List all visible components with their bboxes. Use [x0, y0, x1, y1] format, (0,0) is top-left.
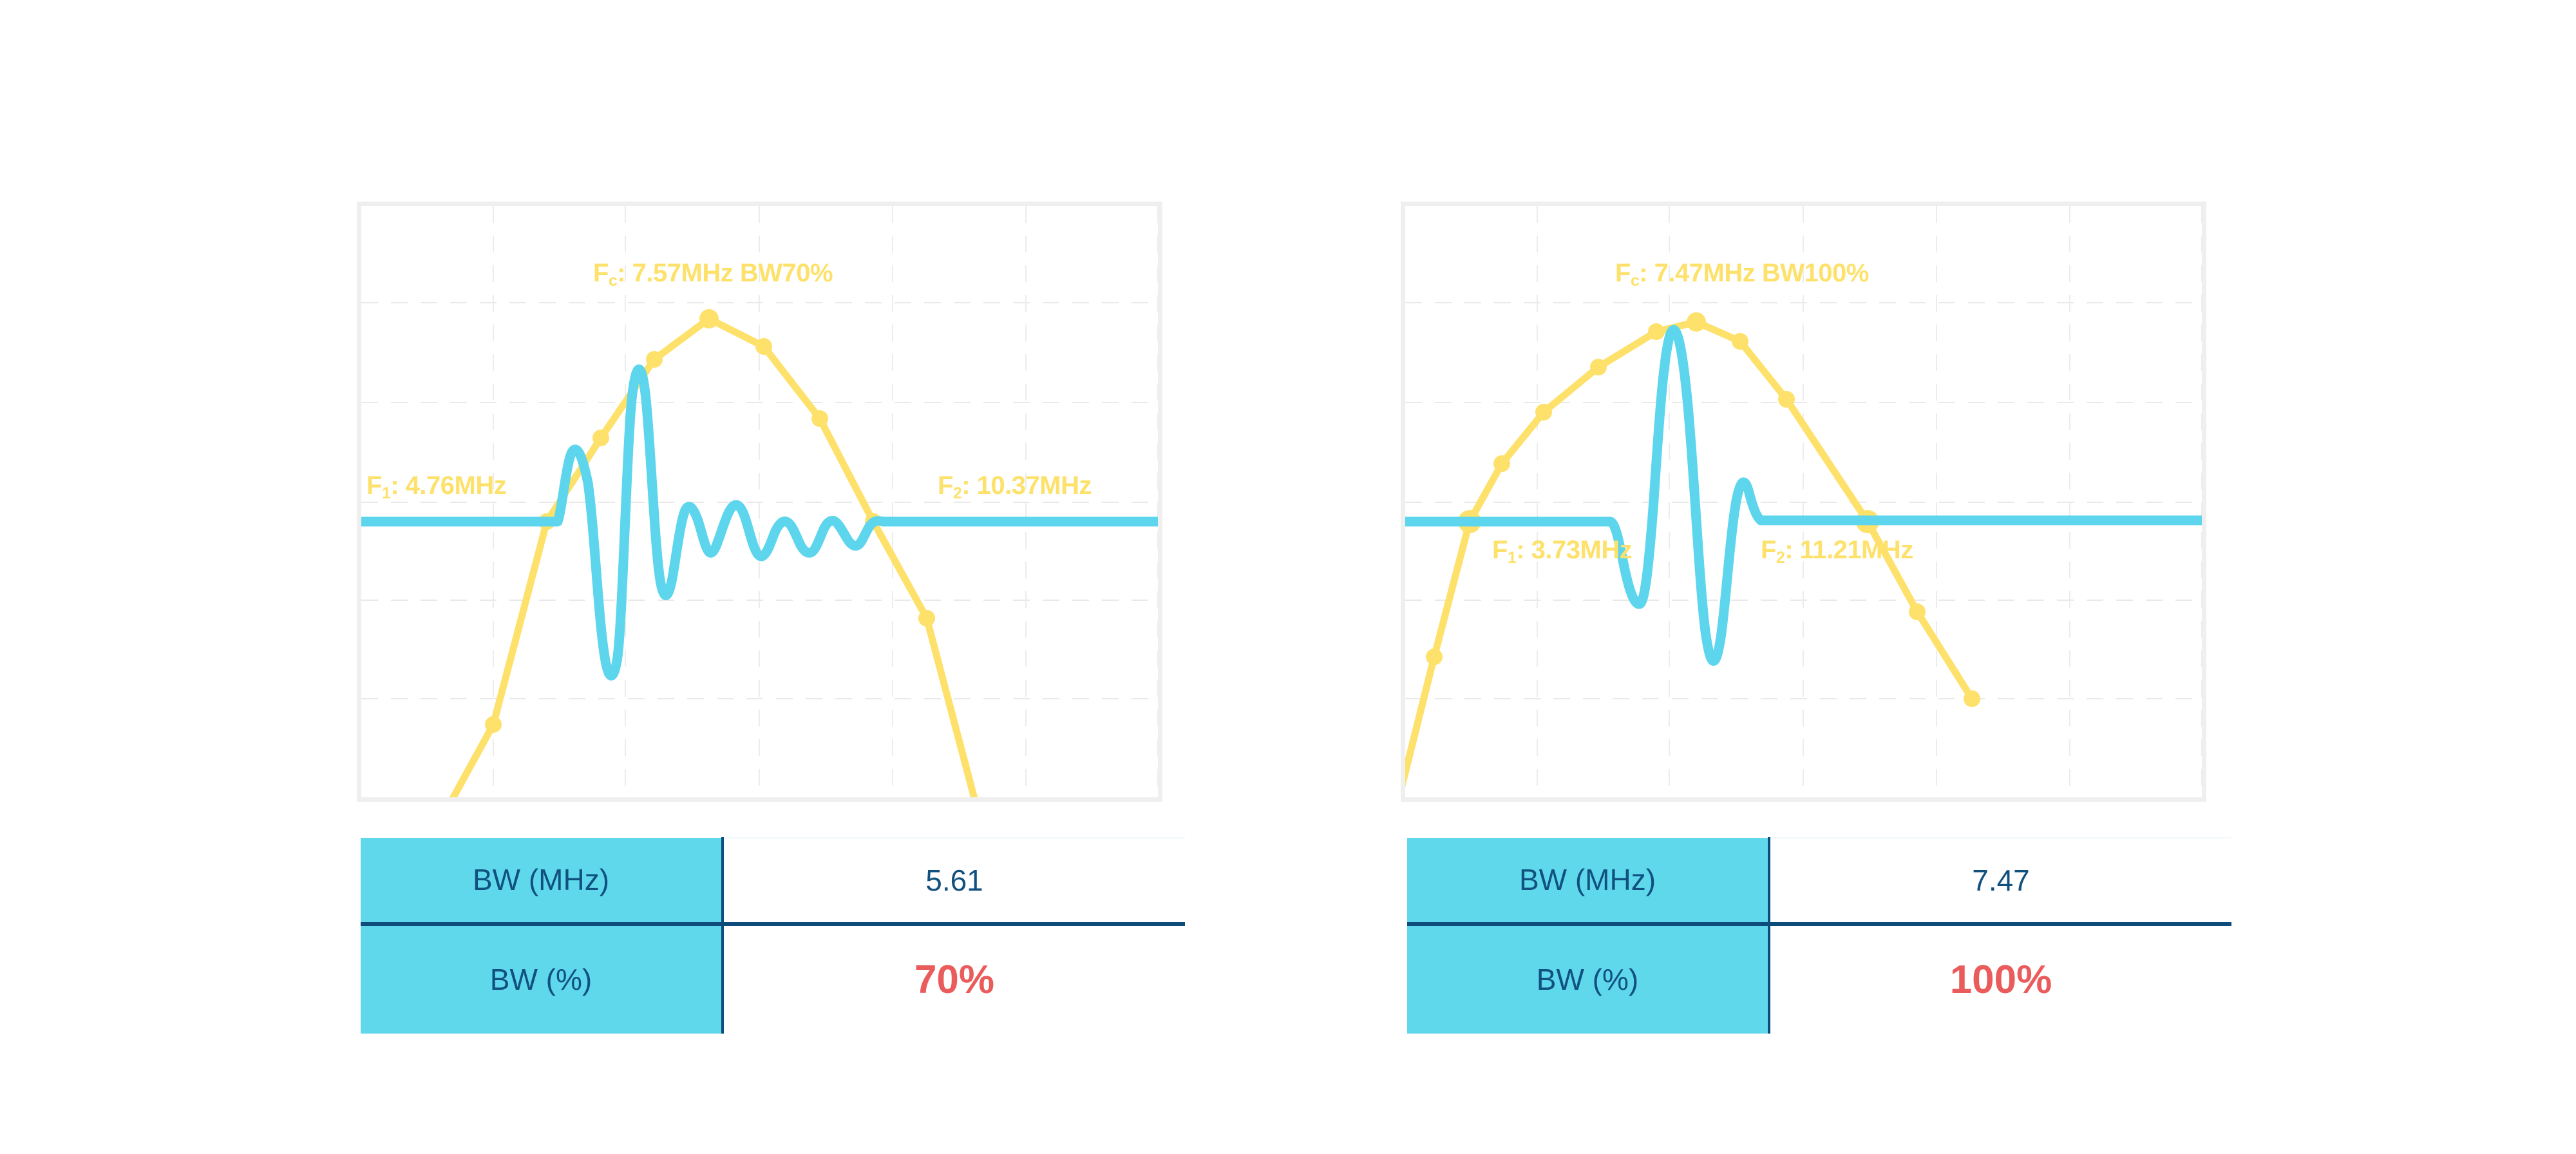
annotation-f1-left-prefix: F — [366, 471, 382, 500]
screenshot-root: Fc: 7.57MHz BW70% F1: 4.76MHz F2: 10.37M… — [0, 0, 2576, 1154]
annotation-center-left-text: : 7.57MHz BW70% — [617, 259, 833, 287]
bw-percent-value-right: 100% — [1769, 924, 2231, 1034]
annotation-f1-right-text: : 3.73MHz — [1516, 536, 1632, 564]
bw-table-left: BW (MHz) 5.61 BW (%) 70% — [361, 837, 1185, 1034]
annotation-f2-left: F2: 10.37MHz — [938, 471, 1092, 500]
bw-percent-label-right: BW (%) — [1407, 924, 1769, 1034]
annotation-center-left-prefix: F — [593, 259, 609, 287]
chart-series-right — [1405, 206, 2202, 797]
chart-plot-area-right: Fc: 7.47MHz BW100% F1: 3.73MHz F2: 11.21… — [1405, 206, 2202, 797]
annotation-f1-left-sub: 1 — [382, 485, 390, 502]
annotation-center-right-prefix: F — [1615, 259, 1631, 287]
chart-panel-left: Fc: 7.57MHz BW70% F1: 4.76MHz F2: 10.37M… — [357, 202, 1162, 802]
annotation-f2-right-sub: 2 — [1776, 549, 1785, 567]
table-row: BW (MHz) 7.47 — [1407, 838, 2231, 924]
annotation-f1-left: F1: 4.76MHz — [366, 471, 506, 500]
annotation-f1-right-sub: 1 — [1508, 549, 1516, 567]
bw-percent-value-left: 70% — [723, 924, 1185, 1034]
pulse-waveform-left — [361, 369, 1158, 676]
spectrum-markers-right — [1426, 312, 1980, 707]
annotation-center-left: Fc: 7.57MHz BW70% — [593, 259, 833, 288]
chart-series-left — [361, 206, 1158, 797]
annotation-f2-left-text: : 10.37MHz — [961, 471, 1092, 500]
annotation-f1-right-prefix: F — [1492, 536, 1508, 564]
pulse-waveform-right — [1405, 330, 2202, 661]
bw-table-right: BW (MHz) 7.47 BW (%) 100% — [1407, 837, 2231, 1034]
table-row: BW (%) 100% — [1407, 924, 2231, 1034]
bw-mhz-value-right: 7.47 — [1769, 838, 2231, 924]
table-row: BW (%) 70% — [361, 924, 1185, 1034]
annotation-f2-right: F2: 11.21MHz — [1761, 536, 1913, 565]
annotation-f2-left-prefix: F — [938, 471, 953, 500]
annotation-center-right-sub: c — [1631, 272, 1639, 290]
chart-panel-right: Fc: 7.47MHz BW100% F1: 3.73MHz F2: 11.21… — [1401, 202, 2206, 802]
bw-mhz-label-right: BW (MHz) — [1407, 838, 1769, 924]
spectrum-line-left — [439, 319, 980, 797]
annotation-center-left-sub: c — [609, 272, 617, 290]
bw-mhz-value-left: 5.61 — [723, 838, 1185, 924]
chart-plot-area-left: Fc: 7.57MHz BW70% F1: 4.76MHz F2: 10.37M… — [361, 206, 1158, 797]
annotation-f2-left-sub: 2 — [953, 485, 961, 502]
bw-percent-label-left: BW (%) — [361, 924, 723, 1034]
bw-mhz-label-left: BW (MHz) — [361, 838, 723, 924]
annotation-center-right: Fc: 7.47MHz BW100% — [1615, 259, 1869, 288]
annotation-f2-right-text: : 11.21MHz — [1785, 536, 1913, 564]
annotation-center-right-text: : 7.47MHz BW100% — [1639, 259, 1869, 287]
annotation-f1-right: F1: 3.73MHz — [1492, 536, 1632, 565]
table-row: BW (MHz) 5.61 — [361, 838, 1185, 924]
annotation-f2-right-prefix: F — [1761, 536, 1776, 564]
annotation-f1-left-text: : 4.76MHz — [390, 471, 506, 500]
